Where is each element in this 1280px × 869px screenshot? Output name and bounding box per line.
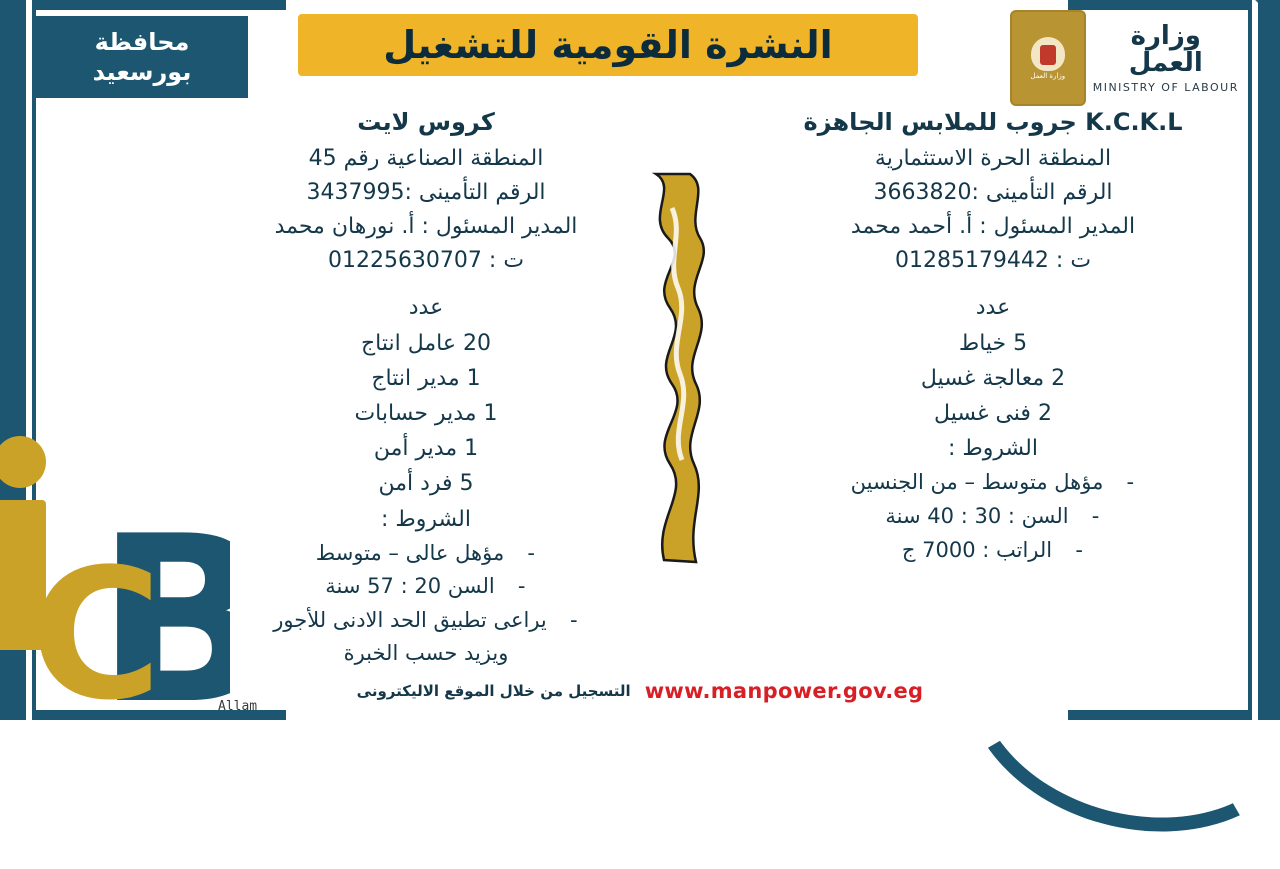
emblem-caption: وزارة العمل <box>1030 73 1065 81</box>
bullet-dash-icon: - <box>517 570 527 604</box>
ministry-logo: وزارة العمل MINISTRY OF LABOUR وزارة الع… <box>1010 8 1240 108</box>
page-title: النشرة القومية للتشغيل <box>298 14 918 76</box>
job-item: 5 خياط <box>758 326 1228 361</box>
conditions-list: - مؤهل عالى – متوسط - السن 20 : 57 سنة -… <box>206 537 646 638</box>
footer: www.manpower.gov.eg التسجيل من خلال المو… <box>0 676 1280 706</box>
bullet-dash-icon: - <box>1091 500 1101 534</box>
eagle-shape-icon <box>1031 37 1065 71</box>
job-item: 1 مدير حسابات <box>206 396 646 431</box>
conditions-header: الشروط : <box>758 431 1228 466</box>
job-item: 1 مدير أمن <box>206 431 646 466</box>
ministry-name-ar: وزارة العمل <box>1092 23 1240 78</box>
frame-left-thin-bar <box>32 0 36 720</box>
employer-block-1: كروس لايت المنطقة الصناعية رقم 45 الرقم … <box>206 104 646 671</box>
employer-zone: المنطقة الصناعية رقم 45 <box>206 142 646 176</box>
bullet-dash-icon: - <box>1074 534 1084 568</box>
employer-name: كروس لايت <box>206 104 646 140</box>
employer-phone: ت : 01285179442 <box>758 244 1228 278</box>
employer-jobs-list: عدد 5 خياط 2 معالجة غسيل 2 فنى غسيل <box>758 290 1228 431</box>
employer-jobs-list: عدد 20 عامل انتاج 1 مدير انتاج 1 مدير حس… <box>206 290 646 501</box>
job-item: 2 فنى غسيل <box>758 396 1228 431</box>
footer-website-link[interactable]: www.manpower.gov.eg <box>645 679 924 703</box>
decorative-ribbon <box>638 168 718 568</box>
governorate-name: بورسعيد <box>93 57 192 87</box>
ministry-wordmark: وزارة العمل MINISTRY OF LABOUR <box>1092 23 1240 93</box>
bullet-dash-icon: - <box>569 604 579 638</box>
employer-insurance-no: الرقم التأمينى :3663820 <box>758 176 1228 210</box>
governorate-badge: محافظة بورسعيد <box>36 16 248 98</box>
conditions-list: - مؤهل متوسط – من الجنسين - السن : 30 : … <box>758 466 1228 567</box>
frame-left-bar <box>0 0 26 720</box>
jobs-count-header: عدد <box>758 290 1228 325</box>
condition-item: - السن 20 : 57 سنة <box>206 570 646 604</box>
condition-item: - السن : 30 : 40 سنة <box>758 500 1228 534</box>
bullet-dash-icon: - <box>526 537 536 571</box>
bullet-dash-icon: - <box>1125 466 1135 500</box>
employer-zone: المنطقة الحرة الاستثمارية <box>758 142 1228 176</box>
conditions-header: الشروط : <box>206 502 646 537</box>
footer-note: التسجيل من خلال الموقع الاليكترونى <box>357 682 631 700</box>
employer-block-0: K.C.K.L جروب للملابس الجاهزة المنطقة الح… <box>758 104 1228 567</box>
condition-item: - مؤهل متوسط – من الجنسين <box>758 466 1228 500</box>
condition-text: الراتب : 7000 ج <box>902 534 1052 568</box>
condition-text: مؤهل عالى – متوسط <box>316 537 504 571</box>
jobs-count-header: عدد <box>206 290 646 325</box>
condition-text: السن : 30 : 40 سنة <box>885 500 1068 534</box>
condition-item: - الراتب : 7000 ج <box>758 534 1228 568</box>
employer-insurance-no: الرقم التأمينى :3437995 <box>206 176 646 210</box>
employer-manager: المدير المسئول : أ. نورهان محمد <box>206 210 646 244</box>
condition-note: ويزيد حسب الخبرة <box>206 637 646 671</box>
employer-phone: ت : 01225630707 <box>206 244 646 278</box>
condition-text: السن 20 : 57 سنة <box>325 570 494 604</box>
title-text: النشرة القومية للتشغيل <box>298 14 918 76</box>
job-item: 20 عامل انتاج <box>206 326 646 361</box>
condition-item: - مؤهل عالى – متوسط <box>206 537 646 571</box>
job-item: 1 مدير انتاج <box>206 361 646 396</box>
ribbon-svg <box>638 168 718 568</box>
egypt-eagle-emblem-icon: وزارة العمل <box>1010 10 1086 106</box>
condition-text: مؤهل متوسط – من الجنسين <box>851 466 1104 500</box>
condition-text: يراعى تطبيق الحد الادنى للأجور <box>273 604 546 638</box>
governorate-label: محافظة <box>95 27 190 57</box>
frame-corner-top-left <box>36 0 286 10</box>
employer-manager: المدير المسئول : أ. أحمد محمد <box>758 210 1228 244</box>
job-item: 2 معالجة غسيل <box>758 361 1228 396</box>
job-item: 5 فرد أمن <box>206 466 646 501</box>
ministry-name-en: MINISTRY OF LABOUR <box>1093 82 1239 94</box>
employer-name: K.C.K.L جروب للملابس الجاهزة <box>758 104 1228 140</box>
condition-item: - يراعى تطبيق الحد الادنى للأجور <box>206 604 646 638</box>
